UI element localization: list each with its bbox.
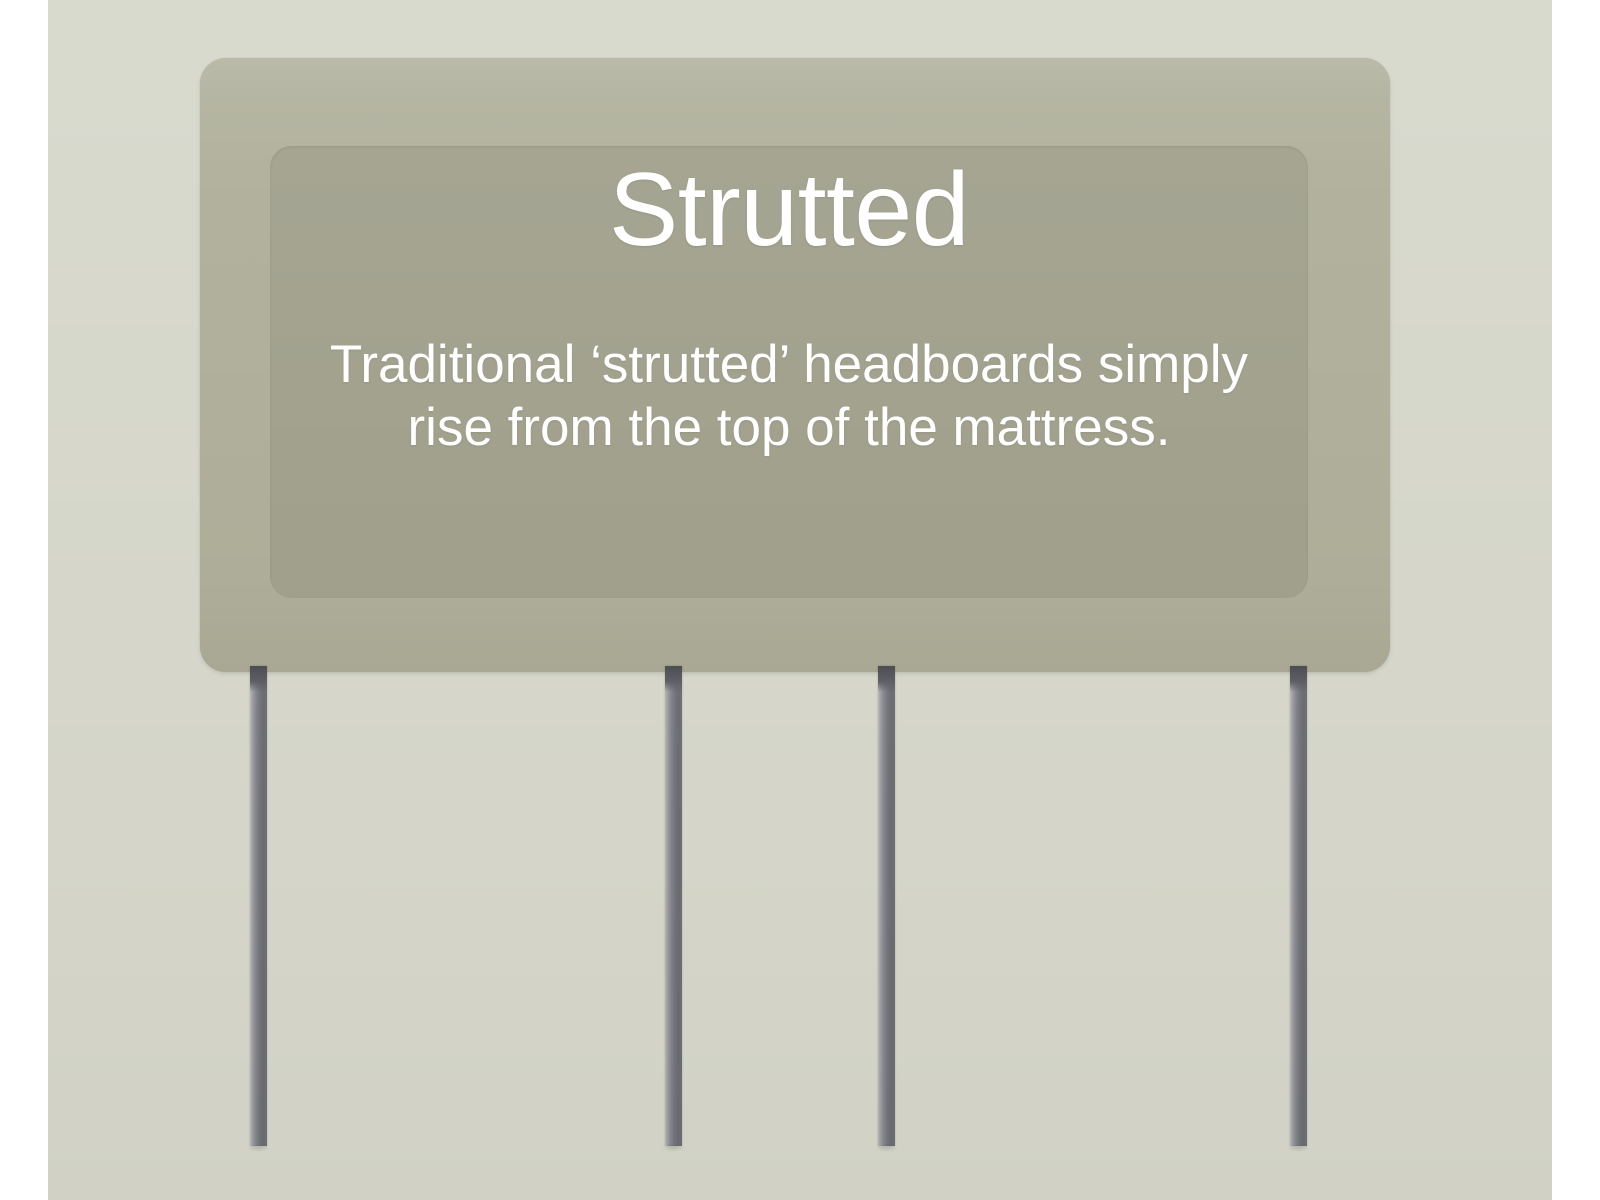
slide: Strutted Traditional ‘strutted’ headboar… [0,0,1600,1200]
headboard-graphic: Strutted Traditional ‘strutted’ headboar… [200,58,1390,672]
headboard-description: Traditional ‘strutted’ headboards simply… [294,334,1284,459]
strut-leg-3 [878,666,895,1146]
strut-leg-1 [250,666,267,1146]
slide-canvas: Strutted Traditional ‘strutted’ headboar… [48,0,1552,1200]
headboard-inner-panel: Strutted Traditional ‘strutted’ headboar… [270,146,1308,598]
strut-leg-4 [1290,666,1307,1146]
page-title: Strutted [270,152,1308,268]
strut-leg-2 [665,666,682,1146]
